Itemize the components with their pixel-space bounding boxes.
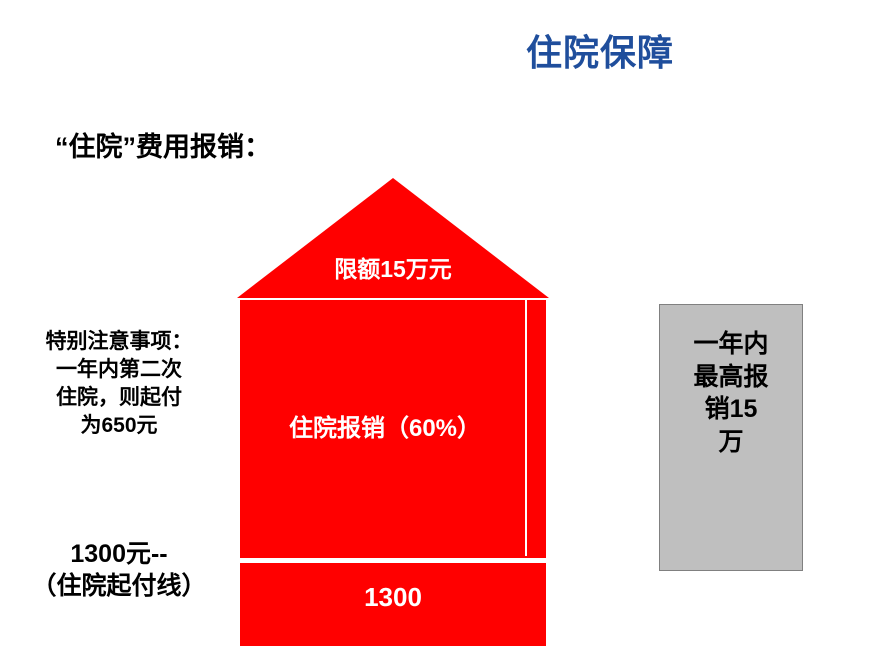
slide-canvas: 住院保障 “住院”费用报销： 特别注意事项： 一年内第二次 住院，则起付 为65…	[0, 0, 887, 643]
special-note-line-4: 为650元	[10, 412, 228, 440]
house-diagram: 限额15万元 住院报销（60%） 1300	[237, 178, 549, 643]
special-note-line-2: 一年内第二次	[10, 356, 228, 384]
annual-cap-line-2: 最高报	[660, 361, 802, 394]
deductible-amount-label: 1300	[240, 582, 546, 613]
special-note-text: 特别注意事项： 一年内第二次 住院，则起付 为650元	[10, 328, 228, 440]
special-note-line-3: 住院，则起付	[10, 384, 228, 412]
annual-cap-line-4: 万	[660, 426, 802, 459]
deductible-line-1: 1300元--	[8, 538, 230, 570]
annual-cap-line-1: 一年内	[660, 328, 802, 361]
page-title: 住院保障	[380, 24, 820, 76]
deductible-threshold-text: 1300元-- （住院起付线）	[8, 538, 230, 602]
annual-cap-box: 一年内 最高报 销15 万	[659, 304, 803, 571]
annual-cap-line-3: 销15	[660, 393, 802, 426]
reimbursement-rate-label: 住院报销（60%）	[240, 408, 530, 443]
coverage-limit-label: 限额15万元	[237, 250, 549, 284]
annual-cap-text: 一年内 最高报 销15 万	[660, 328, 802, 458]
deductible-line-2: （住院起付线）	[8, 570, 230, 602]
section-subtitle: “住院”费用报销：	[55, 125, 271, 164]
special-note-line-1: 特别注意事项：	[10, 328, 228, 356]
